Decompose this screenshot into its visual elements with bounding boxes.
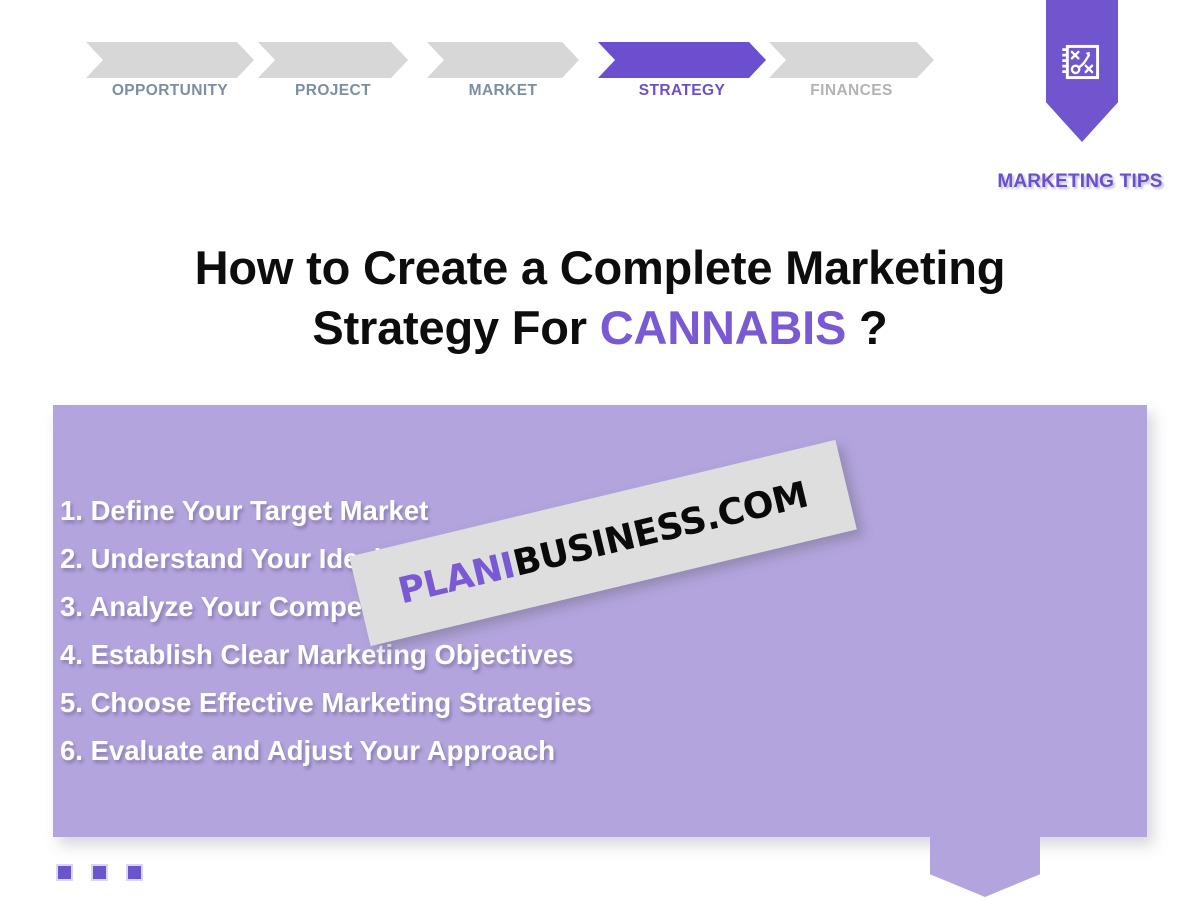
chevron-shape [769, 42, 934, 78]
step-project[interactable]: PROJECT [258, 42, 408, 78]
step-opportunity[interactable]: OPPORTUNITY [86, 42, 254, 78]
chevron-shape [86, 42, 254, 78]
step-market[interactable]: MARKET [427, 42, 579, 78]
title-line-1: How to Create a Complete Marketing [195, 241, 1006, 294]
list-item: 4. Establish Clear Marketing Objectives [60, 631, 1060, 679]
chevron-shape [598, 42, 766, 78]
marketing-tips-ribbon [1046, 0, 1118, 142]
step-label: MARKET [427, 82, 579, 100]
strategy-playbook-icon [1060, 40, 1104, 84]
page-title: How to Create a Complete Marketing Strat… [90, 238, 1110, 358]
watermark-brand-primary: PLANI [394, 544, 519, 611]
ribbon-caption: MARKETING TIPS [992, 171, 1168, 193]
step-label: STRATEGY [598, 82, 766, 100]
step-strategy[interactable]: STRATEGY [598, 42, 766, 78]
step-label: PROJECT [258, 82, 408, 100]
title-line-2-pre: Strategy For [312, 301, 599, 354]
title-line-2-post: ? [846, 301, 887, 354]
pagination-dot[interactable] [126, 864, 143, 881]
list-item: 5. Choose Effective Marketing Strategies [60, 679, 1060, 727]
chevron-shape [427, 42, 579, 78]
pagination-dots[interactable] [56, 864, 143, 881]
list-item: 6. Evaluate and Adjust Your Approach [60, 727, 1060, 775]
step-label: FINANCES [769, 82, 934, 100]
pagination-dot[interactable] [91, 864, 108, 881]
breadcrumb-stepper: OPPORTUNITY PROJECT MARKET STRATEGY FINA… [86, 42, 936, 112]
title-highlight: CANNABIS [600, 301, 846, 354]
step-label: OPPORTUNITY [86, 82, 254, 100]
step-finances[interactable]: FINANCES [769, 42, 934, 78]
chevron-shape [258, 42, 408, 78]
pagination-dot[interactable] [56, 864, 73, 881]
panel-bottom-tab [930, 837, 1040, 897]
